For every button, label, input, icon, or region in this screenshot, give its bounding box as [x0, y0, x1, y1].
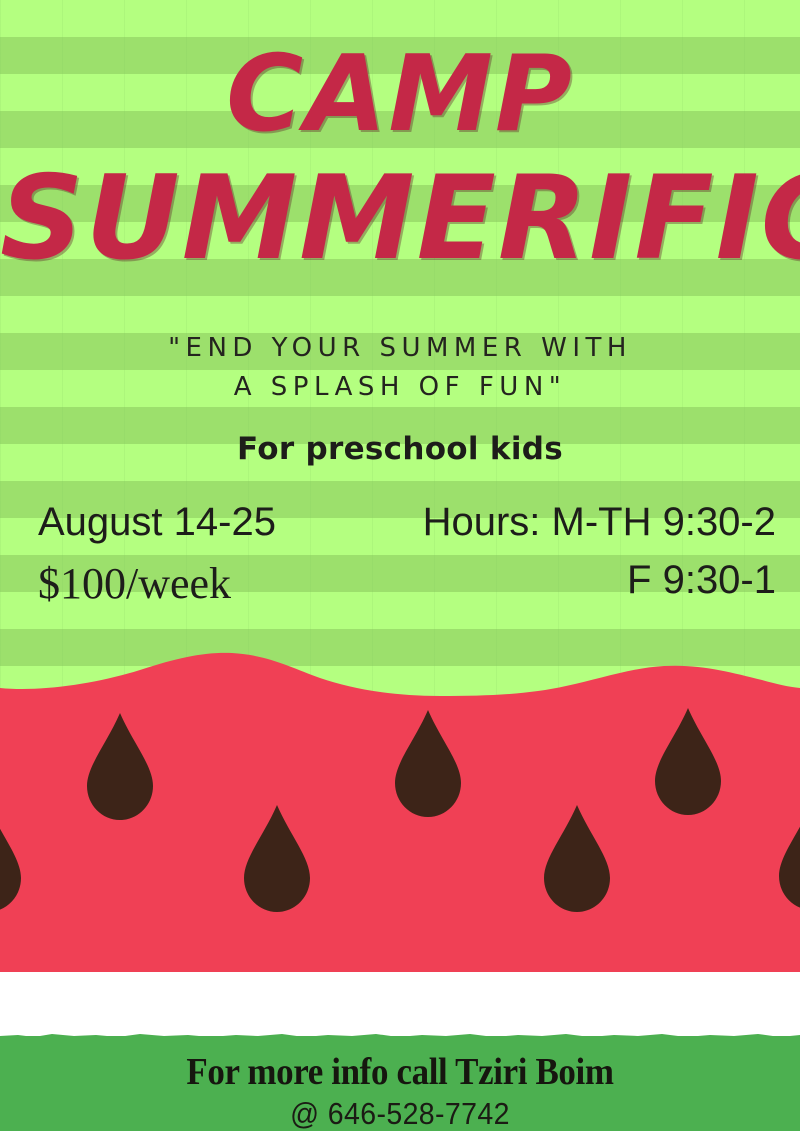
hours-friday: F 9:30-1 [627, 558, 776, 603]
tagline-line-2: A SPLASH OF FUN" [0, 372, 800, 402]
watermelon-flesh-illustration [0, 640, 800, 973]
footer-contact-band: For more info call Tziri Boim @ 646-528-… [0, 1036, 800, 1131]
contact-phone[interactable]: @ 646-528-7742 [32, 1096, 768, 1131]
hours-weekday: Hours: M-TH 9:30-2 [423, 500, 776, 545]
tagline-line-1: "END YOUR SUMMER WITH [0, 333, 800, 363]
camp-flyer-poster: CAMP SUMMERIFIC "END YOUR SUMMER WITH A … [0, 0, 800, 1131]
camp-dates: August 14-25 [38, 500, 276, 545]
white-divider-band [0, 972, 800, 1038]
details-row-first: August 14-25 Hours: M-TH 9:30-2 [0, 500, 800, 558]
audience-label: For preschool kids [0, 431, 800, 467]
camp-price: $100/week [38, 558, 231, 609]
footer-text-group: For more info call Tziri Boim @ 646-528-… [0, 1036, 800, 1131]
page-title-line-1: CAMP [0, 46, 800, 143]
page-title-line-2: SUMMERIFIC [0, 166, 800, 273]
poster-text-content: CAMP SUMMERIFIC "END YOUR SUMMER WITH A … [0, 0, 800, 700]
details-row-second: $100/week F 9:30-1 [0, 558, 800, 616]
details-block: August 14-25 Hours: M-TH 9:30-2 $100/wee… [0, 500, 800, 616]
contact-name: For more info call Tziri Boim [32, 1050, 768, 1094]
